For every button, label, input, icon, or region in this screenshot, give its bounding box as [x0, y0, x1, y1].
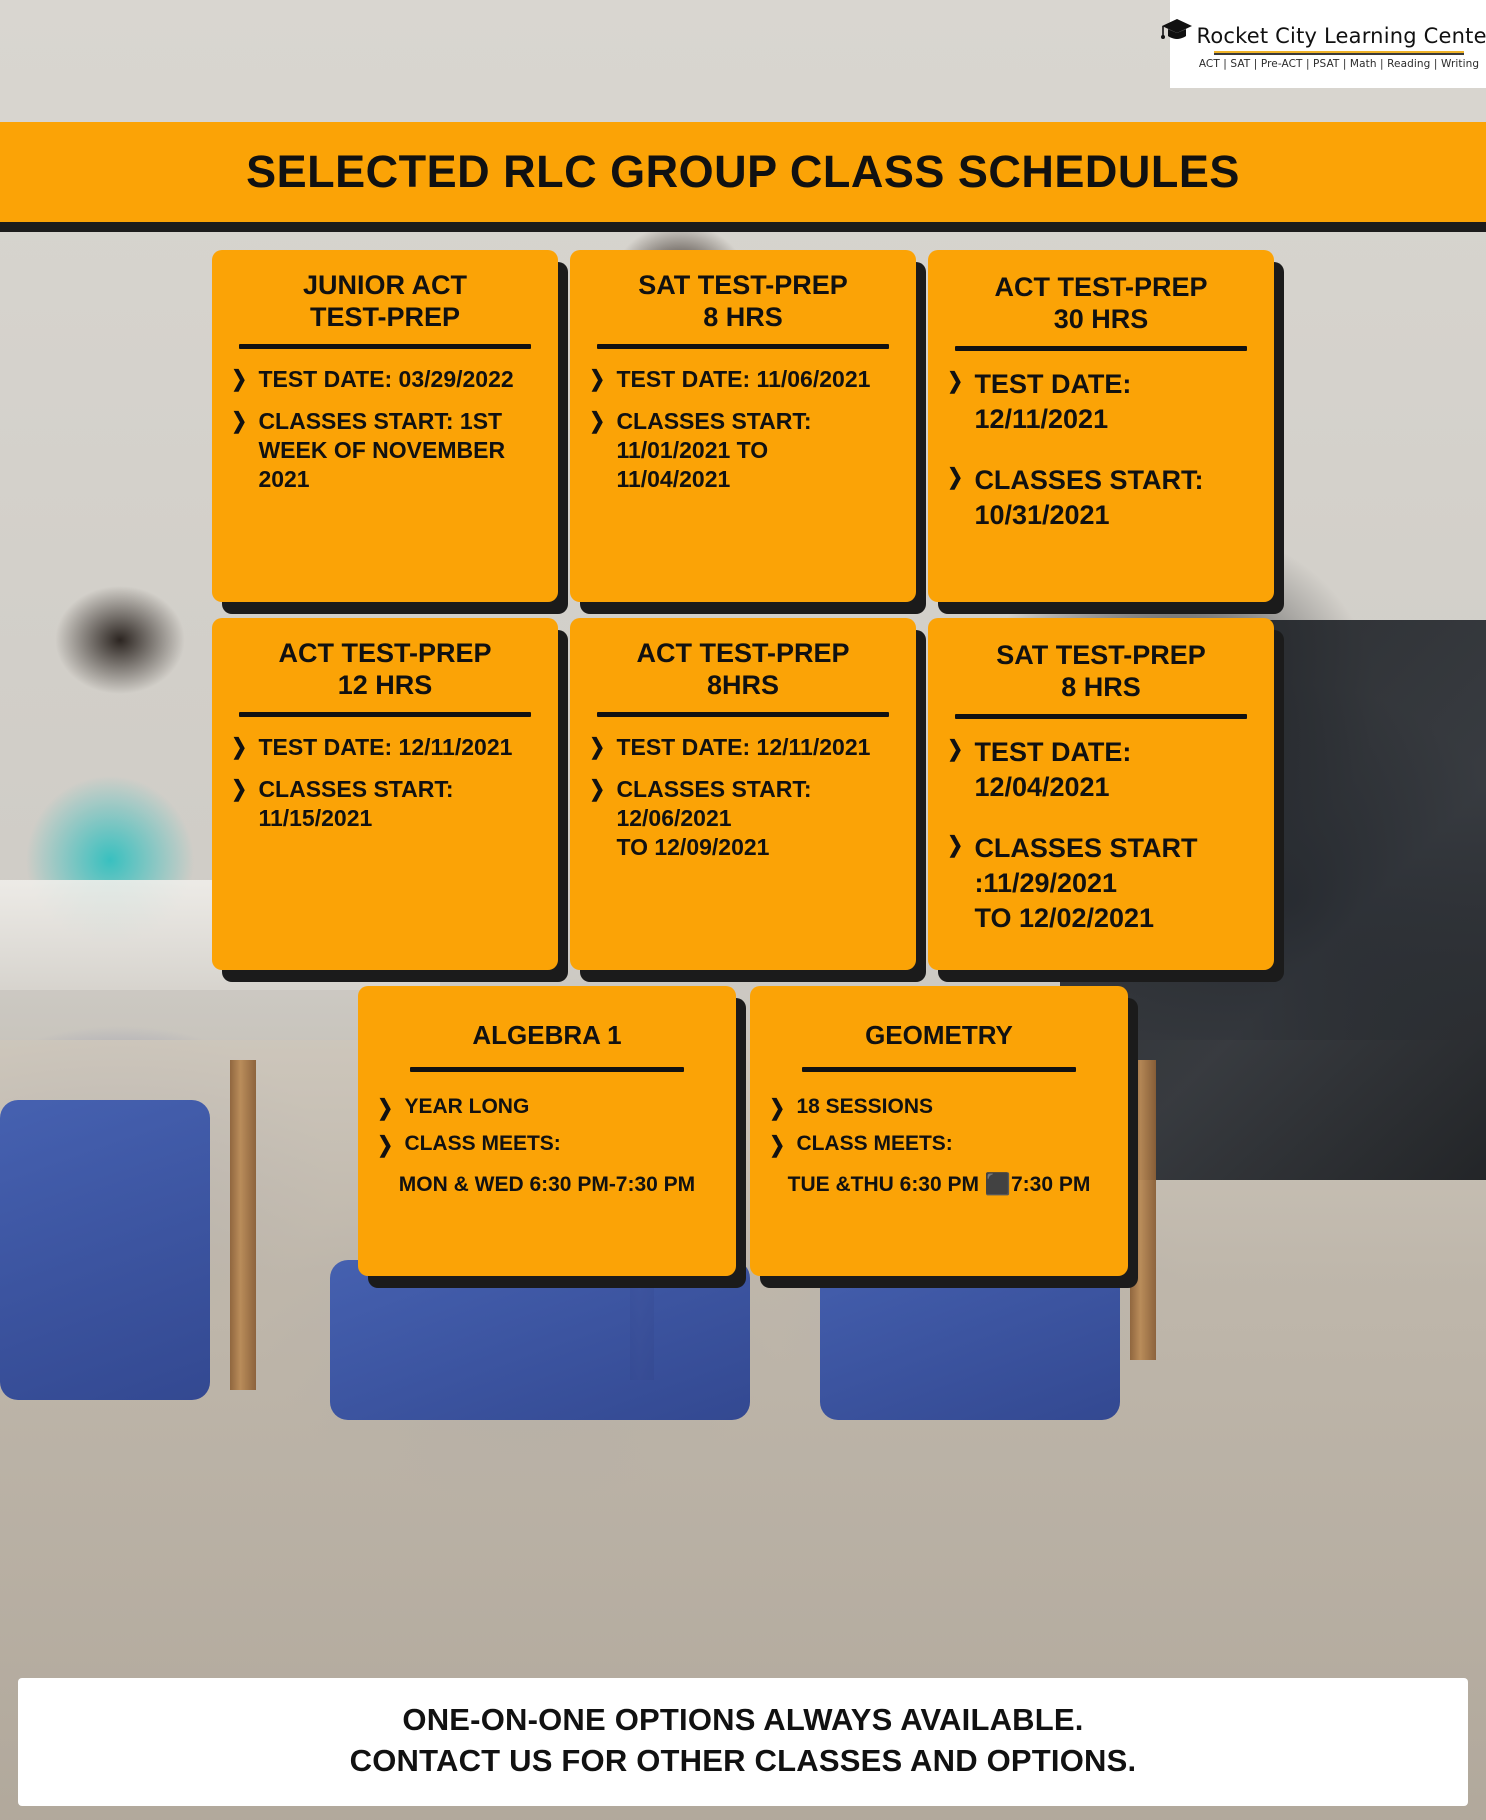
logo-row: Rocket City Learning Center	[1160, 16, 1486, 47]
chevron-right-icon: ❯	[947, 831, 963, 859]
card-divider	[597, 344, 888, 349]
list-item: ❯ TEST DATE: 12/04/2021	[946, 735, 1256, 805]
logo-divider	[1214, 51, 1464, 55]
class-schedule-text: MON & WED 6:30 PM-7:30 PM	[376, 1173, 718, 1197]
footer-line-2: CONTACT US FOR OTHER CLASSES AND OPTIONS…	[28, 1741, 1458, 1782]
card-row-1: JUNIOR ACT TEST-PREP ❯ TEST DATE: 03/29/…	[0, 250, 1486, 602]
list-item: ❯ TEST DATE: 12/11/2021	[946, 367, 1256, 437]
chevron-right-icon: ❯	[231, 775, 247, 803]
chevron-right-icon: ❯	[947, 735, 963, 763]
bullet-text: CLASSES START: 11/15/2021	[258, 775, 453, 833]
bullet-text: TEST DATE: 11/06/2021	[616, 365, 870, 394]
list-item: ❯ CLASSES START: 11/15/2021	[230, 775, 540, 833]
footer-line-1: ONE-ON-ONE OPTIONS ALWAYS AVAILABLE.	[28, 1700, 1458, 1741]
bullet-text: CLASS MEETS:	[796, 1131, 952, 1157]
card-title: ACT TEST-PREP 8HRS	[588, 638, 898, 702]
chevron-right-icon: ❯	[589, 365, 605, 393]
card-bullets: ❯ YEAR LONG ❯ CLASS MEETS:	[376, 1094, 718, 1159]
list-item: ❯ TEST DATE: 03/29/2022	[230, 365, 540, 394]
card-act-test-prep-12hrs[interactable]: ACT TEST-PREP 12 HRS ❯ TEST DATE: 12/11/…	[212, 618, 558, 970]
chevron-right-icon: ❯	[231, 407, 247, 435]
bullet-text: TEST DATE: 03/29/2022	[258, 365, 513, 394]
class-schedule-text: TUE &THU 6:30 PM ⬛7:30 PM	[768, 1173, 1110, 1197]
card-geometry[interactable]: GEOMETRY ❯ 18 SESSIONS ❯ CLASS MEETS: TU…	[750, 986, 1128, 1276]
schedule-grid: JUNIOR ACT TEST-PREP ❯ TEST DATE: 03/29/…	[0, 250, 1486, 1292]
bullet-text: TEST DATE: 12/04/2021	[974, 735, 1131, 805]
card-divider	[410, 1067, 684, 1072]
bullet-text: CLASS MEETS:	[404, 1131, 560, 1157]
footer-banner: ONE-ON-ONE OPTIONS ALWAYS AVAILABLE. CON…	[18, 1678, 1468, 1806]
card-divider	[802, 1067, 1076, 1072]
list-item: ❯ CLASS MEETS:	[768, 1131, 1110, 1159]
poster-root: Rocket City Learning Center ACT | SAT | …	[0, 0, 1486, 1820]
logo-subjects: ACT | SAT | Pre-ACT | PSAT | Math | Read…	[1199, 58, 1479, 70]
list-item: ❯ CLASS MEETS:	[376, 1131, 718, 1159]
list-item: ❯ TEST DATE: 12/11/2021	[588, 733, 898, 762]
bullet-text: TEST DATE: 12/11/2021	[258, 733, 512, 762]
card-algebra-1[interactable]: ALGEBRA 1 ❯ YEAR LONG ❯ CLASS MEETS: MON…	[358, 986, 736, 1276]
card-bullets: ❯ TEST DATE: 12/11/2021 ❯ CLASSES START:…	[588, 733, 898, 862]
list-item: ❯ TEST DATE: 11/06/2021	[588, 365, 898, 394]
chevron-right-icon: ❯	[769, 1094, 785, 1122]
chevron-right-icon: ❯	[589, 733, 605, 761]
card-bullets: ❯ TEST DATE: 12/11/2021 ❯ CLASSES START:…	[946, 367, 1256, 533]
card-divider	[239, 712, 530, 717]
card-title: JUNIOR ACT TEST-PREP	[230, 270, 540, 334]
bullet-text: 18 SESSIONS	[796, 1094, 933, 1120]
list-item: ❯ CLASSES START: 10/31/2021	[946, 463, 1256, 533]
page-title: SELECTED RLC GROUP CLASS SCHEDULES	[246, 146, 1240, 198]
card-divider	[597, 712, 888, 717]
card-act-test-prep-30hrs[interactable]: ACT TEST-PREP 30 HRS ❯ TEST DATE: 12/11/…	[928, 250, 1274, 602]
card-title: ACT TEST-PREP 12 HRS	[230, 638, 540, 702]
card-divider	[955, 714, 1246, 719]
card-bullets: ❯ TEST DATE: 03/29/2022 ❯ CLASSES START:…	[230, 365, 540, 494]
chevron-right-icon: ❯	[377, 1094, 393, 1122]
list-item: ❯ CLASSES START: 12/06/2021 TO 12/09/202…	[588, 775, 898, 861]
list-item: ❯ TEST DATE: 12/11/2021	[230, 733, 540, 762]
chevron-right-icon: ❯	[231, 365, 247, 393]
list-item: ❯ CLASSES START: 11/01/2021 TO 11/04/202…	[588, 407, 898, 493]
logo-name: Rocket City Learning Center	[1196, 26, 1486, 47]
card-row-3: ALGEBRA 1 ❯ YEAR LONG ❯ CLASS MEETS: MON…	[0, 986, 1486, 1276]
bullet-text: TEST DATE: 12/11/2021	[974, 367, 1131, 437]
list-item: ❯ CLASSES START :11/29/2021 TO 12/02/202…	[946, 831, 1256, 936]
chevron-right-icon: ❯	[947, 463, 963, 491]
card-sat-test-prep-8hrs[interactable]: SAT TEST-PREP 8 HRS ❯ TEST DATE: 11/06/2…	[570, 250, 916, 602]
chevron-right-icon: ❯	[769, 1131, 785, 1159]
bullet-text: CLASSES START: 11/01/2021 TO 11/04/2021	[616, 407, 811, 493]
bullet-text: CLASSES START: 10/31/2021	[974, 463, 1203, 533]
card-divider	[239, 344, 530, 349]
card-junior-act-test-prep[interactable]: JUNIOR ACT TEST-PREP ❯ TEST DATE: 03/29/…	[212, 250, 558, 602]
chevron-right-icon: ❯	[947, 367, 963, 395]
card-bullets: ❯ TEST DATE: 12/11/2021 ❯ CLASSES START:…	[230, 733, 540, 833]
bullet-text: CLASSES START :11/29/2021 TO 12/02/2021	[974, 831, 1197, 936]
card-act-test-prep-8hrs[interactable]: ACT TEST-PREP 8HRS ❯ TEST DATE: 12/11/20…	[570, 618, 916, 970]
card-title: SAT TEST-PREP 8 HRS	[588, 270, 898, 334]
card-bullets: ❯ 18 SESSIONS ❯ CLASS MEETS:	[768, 1094, 1110, 1159]
card-bullets: ❯ TEST DATE: 12/04/2021 ❯ CLASSES START …	[946, 735, 1256, 936]
graduation-cap-icon	[1160, 16, 1194, 47]
card-row-2: ACT TEST-PREP 12 HRS ❯ TEST DATE: 12/11/…	[0, 618, 1486, 970]
brand-logo: Rocket City Learning Center ACT | SAT | …	[1170, 0, 1486, 88]
chevron-right-icon: ❯	[377, 1131, 393, 1159]
list-item: ❯ CLASSES START: 1ST WEEK OF NOVEMBER 20…	[230, 407, 540, 493]
bullet-text: CLASSES START: 1ST WEEK OF NOVEMBER 2021	[258, 407, 505, 493]
chevron-right-icon: ❯	[589, 775, 605, 803]
title-banner: SELECTED RLC GROUP CLASS SCHEDULES	[0, 122, 1486, 232]
card-title: GEOMETRY	[768, 1020, 1110, 1051]
card-sat-test-prep-8hrs-dec[interactable]: SAT TEST-PREP 8 HRS ❯ TEST DATE: 12/04/2…	[928, 618, 1274, 970]
bullet-text: TEST DATE: 12/11/2021	[616, 733, 870, 762]
card-title: SAT TEST-PREP 8 HRS	[946, 640, 1256, 704]
card-divider	[955, 346, 1246, 351]
bullet-text: YEAR LONG	[404, 1094, 529, 1120]
list-item: ❯ YEAR LONG	[376, 1094, 718, 1122]
card-title: ALGEBRA 1	[376, 1020, 718, 1051]
chevron-right-icon: ❯	[589, 407, 605, 435]
bullet-text: CLASSES START: 12/06/2021 TO 12/09/2021	[616, 775, 811, 861]
chevron-right-icon: ❯	[231, 733, 247, 761]
card-title: ACT TEST-PREP 30 HRS	[946, 272, 1256, 336]
card-bullets: ❯ TEST DATE: 11/06/2021 ❯ CLASSES START:…	[588, 365, 898, 494]
list-item: ❯ 18 SESSIONS	[768, 1094, 1110, 1122]
